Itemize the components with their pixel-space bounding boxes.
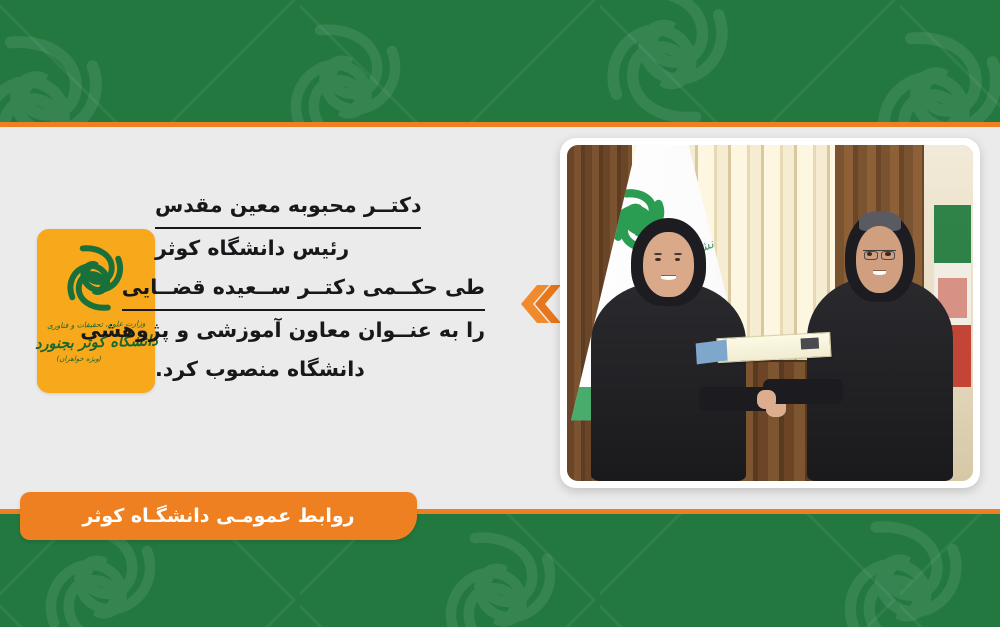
photo-scene: دانشگاه کوثر bbox=[567, 145, 973, 481]
mouth-smile bbox=[873, 270, 886, 275]
ribbon-label: روابط عمومـی دانشگـاه کوثر bbox=[82, 505, 354, 527]
eyebrow-right bbox=[674, 253, 682, 255]
person-left-face bbox=[643, 232, 693, 298]
person-left-body bbox=[591, 282, 745, 481]
photo-card: دانشگاه کوثر bbox=[560, 138, 980, 488]
person-left-head bbox=[631, 218, 705, 307]
headline-line-4: را به عنــوان معاون آموزشی و پژوهشی bbox=[155, 311, 485, 350]
eye-left bbox=[655, 258, 661, 261]
headline-line-3-text: طی حکــمی دکتــر ســعیده قضــایی bbox=[122, 268, 485, 311]
headline-line-3: طی حکــمی دکتــر ســعیده قضــایی bbox=[155, 268, 485, 311]
headline-line-2: رئیس دانشگاه کوثر bbox=[155, 229, 485, 268]
eyebrow-left bbox=[654, 253, 662, 255]
person-right-head bbox=[845, 211, 915, 302]
logo-sub-line: (ویژه خواهران) bbox=[56, 355, 101, 363]
eye-right bbox=[885, 252, 890, 255]
ceremony-photo: دانشگاه کوثر bbox=[567, 145, 973, 481]
mouth-smile bbox=[661, 275, 675, 280]
poster: وزارت علوم، تحقیقات و فناوری دانشگاه کوث… bbox=[0, 0, 1000, 627]
person-right-face bbox=[856, 226, 904, 293]
eye-right bbox=[675, 258, 681, 261]
headline-block: دکتــر محبوبه معین مقدس رئیس دانشگاه کوث… bbox=[155, 186, 485, 389]
public-relations-ribbon: روابط عمومـی دانشگـاه کوثر bbox=[20, 492, 417, 540]
headline-line-1: دکتــر محبوبه معین مقدس bbox=[155, 186, 485, 229]
headline-line-5: دانشگاه منصوب کرد. bbox=[155, 350, 485, 389]
double-chevron-left-icon bbox=[517, 283, 563, 325]
person-right-hand bbox=[757, 390, 776, 409]
headline-line-1-text: دکتــر محبوبه معین مقدس bbox=[155, 186, 421, 229]
